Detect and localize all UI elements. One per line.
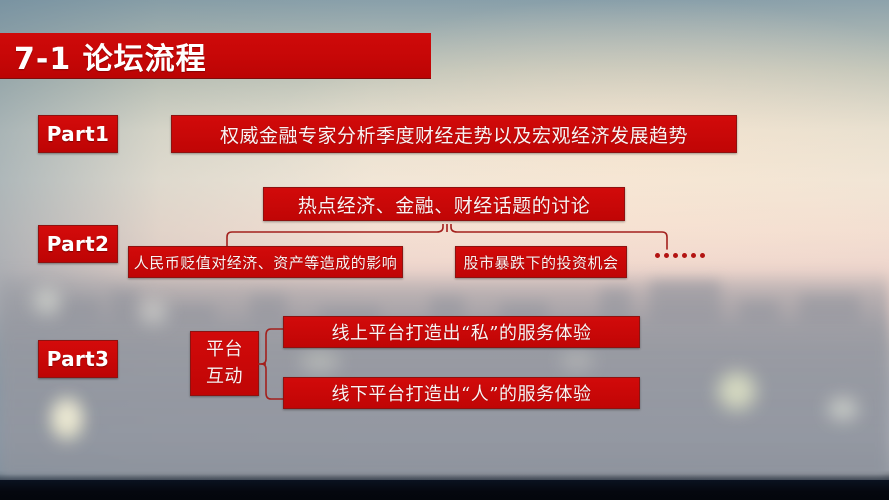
part-badge-3: Part3	[38, 340, 118, 378]
background-light-blob	[300, 352, 340, 372]
background-light-blob	[718, 372, 756, 410]
slide-title-banner: 7-1 论坛流程	[0, 33, 431, 79]
background-bottom-band	[0, 480, 889, 500]
background-light-blob	[56, 400, 78, 430]
part3-service-box-online: 线上平台打造出“私”的服务体验	[283, 316, 640, 348]
background-light-blob	[34, 288, 60, 314]
part2-ellipsis-dots	[655, 253, 705, 258]
page-title: 7-1 论坛流程	[14, 34, 207, 78]
part3-service-box-offline: 线下平台打造出“人”的服务体验	[283, 377, 640, 409]
part2-subtopic-box-2: 股市暴跌下的投资机会	[455, 246, 627, 278]
part2-subtopic-box-1: 人民币贬值对经济、资产等造成的影响	[128, 246, 403, 278]
background-city-haze	[0, 268, 889, 478]
part3-hub-box: 平台 互动	[190, 331, 259, 396]
part-badge-1: Part1	[38, 115, 118, 153]
part3-bracket-connector	[258, 326, 284, 402]
part3-hub-line-2: 互动	[206, 364, 243, 390]
presentation-slide: 7-1 论坛流程 Part1 权威金融专家分析季度财经走势以及宏观经济发展趋势 …	[0, 0, 889, 500]
background-light-blob	[560, 352, 594, 370]
background-light-blob	[140, 300, 168, 324]
background-light-blob	[828, 398, 858, 420]
part-badge-2: Part2	[38, 225, 118, 263]
part1-statement-box: 权威金融专家分析季度财经走势以及宏观经济发展趋势	[171, 115, 737, 153]
part2-topic-box: 热点经济、金融、财经话题的讨论	[263, 187, 625, 221]
part3-hub-line-1: 平台	[206, 337, 243, 363]
